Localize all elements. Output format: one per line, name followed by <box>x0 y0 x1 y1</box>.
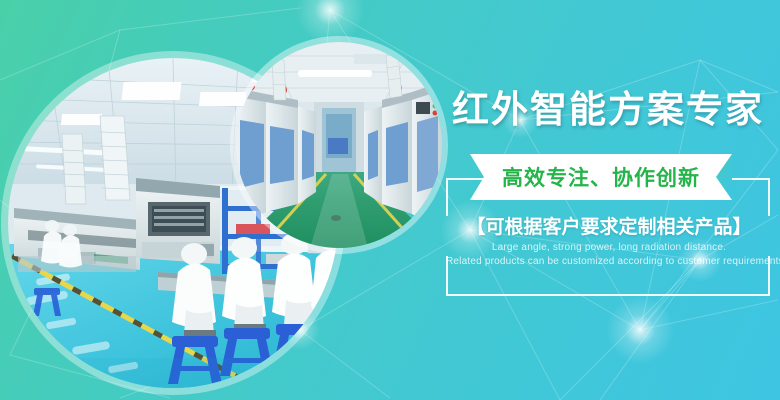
ribbon-label: 高效专注、协作创新 <box>470 154 732 200</box>
slogan-ribbon: 高效专注、协作创新 <box>470 154 732 200</box>
promo-banner: 红外智能方案专家 高效专注、协作创新 【可根据客户要求定制相关产品】 Large… <box>0 0 780 400</box>
bracket-left-upper <box>446 178 448 216</box>
bracket-bottom-left <box>446 294 770 296</box>
subtitle-english-line2: Related products can be customized accor… <box>446 256 772 267</box>
subtitle-english-line1: Large angle, strong power, long radiatio… <box>446 242 772 253</box>
testing-chamber-corridor-photo <box>236 42 442 248</box>
subtitle-chinese: 【可根据客户要求定制相关产品】 <box>446 212 772 239</box>
bracket-right-upper <box>768 178 770 216</box>
page-title: 红外智能方案专家 <box>452 79 772 133</box>
